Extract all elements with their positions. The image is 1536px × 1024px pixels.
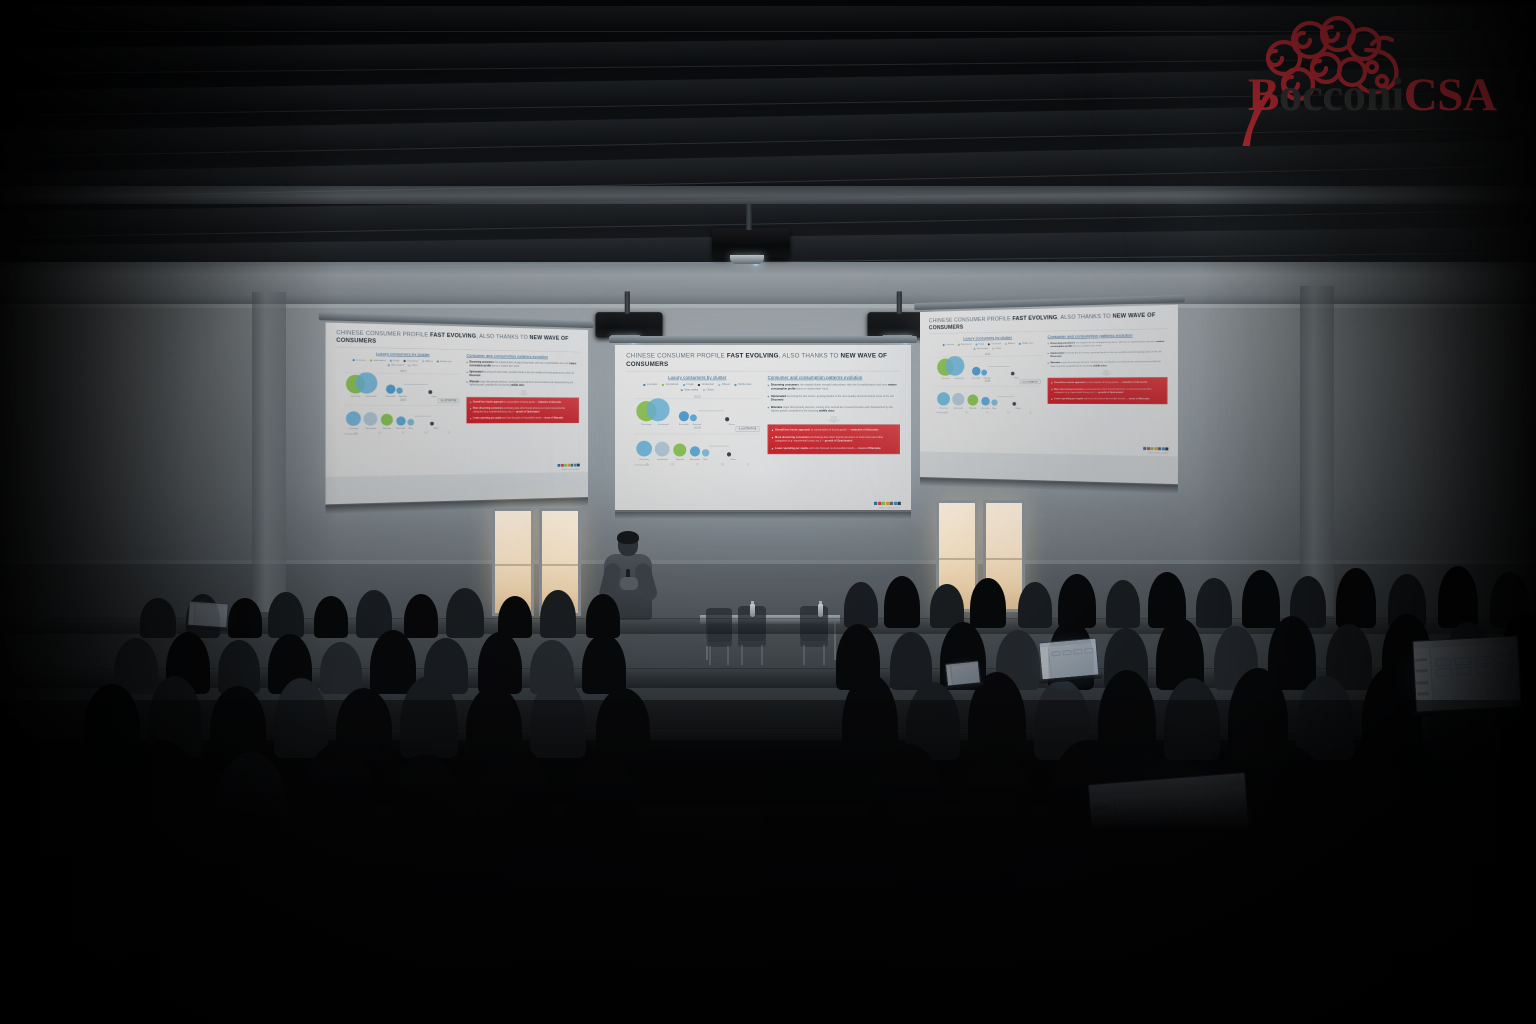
chair: [800, 606, 828, 664]
chart-legend: Luxurians Aspirational Frugal Occasional…: [634, 383, 760, 391]
laptop-display: [1038, 638, 1099, 681]
ceiling-projector-left: [595, 312, 662, 338]
bullet-item: Opinionated becoming the fast cluster, g…: [466, 370, 578, 378]
bullet-item: Opinionated becoming the fast cluster, g…: [768, 394, 900, 402]
chart-heading: Luxury consumers by cluster: [936, 335, 1042, 341]
bubble-row-2018: Discerning Opinionated Wannabe Accessibl…: [634, 435, 760, 460]
laptop-screen: [1038, 638, 1099, 681]
slide-left: CHINESE CONSUMER PROFILE FAST EVOLVING, …: [326, 323, 589, 477]
bubble-row-2018: Discerning Opinionated Wannabe Accessibl…: [936, 387, 1042, 409]
logo-wordmark-red: CSA: [1404, 69, 1497, 121]
slide-left-column: Luxury consumers by cluster Luxurians As…: [344, 351, 460, 434]
audience-member: [1018, 582, 1052, 628]
chart-heading: Luxury consumers by cluster: [344, 351, 460, 358]
title-mid: , ALSO THANKS TO: [476, 333, 529, 340]
projection-screen-right: CHINESE CONSUMER PROFILE FAST EVOLVING, …: [920, 305, 1178, 486]
chart-legend: Luxurians Aspirational Frugal Occasional…: [344, 358, 460, 367]
slide-footer-note: Source: company analysis: [562, 468, 580, 470]
slide-title-center: CHINESE CONSUMER PROFILE FAST EVOLVING, …: [626, 351, 899, 368]
slide-left-column: Luxury consumers by cluster Luxurians As…: [936, 335, 1042, 414]
slide-title-right: CHINESE CONSUMER PROFILE FAST EVOLVING, …: [929, 311, 1167, 331]
laptop-screen: [945, 660, 981, 687]
down-arrow-icon: [518, 390, 530, 396]
screen-roller-center: [609, 336, 917, 343]
bubble-row-2013: Discerning Opinionated Accessible Wannab…: [936, 357, 1042, 379]
audience-member: [586, 594, 620, 638]
key-takeaway-box: Overall less hectic approach to consumpt…: [768, 425, 900, 454]
key-takeaway-box: Overall less hectic approach to consumpt…: [466, 397, 578, 423]
water-bottle: [750, 604, 755, 617]
slide-brand-logo: [874, 502, 901, 505]
bocconi-csa-watermark: BocconiCSA: [1226, 6, 1526, 146]
projection-screen-center: CHINESE CONSUMER PROFILE FAST EVOLVING, …: [615, 345, 911, 511]
slide-right: CHINESE CONSUMER PROFILE FAST EVOLVING, …: [920, 305, 1178, 457]
wall-pillar-right: [1300, 286, 1334, 616]
chart-legend: Luxurians Aspirational Frugal Occasional…: [936, 342, 1042, 350]
slide-center: CHINESE CONSUMER PROFILE FAST EVOLVING, …: [615, 345, 911, 512]
slide-right-column: Consumer and consumption patterns evolut…: [466, 354, 578, 424]
audience-member: [228, 598, 262, 638]
ceiling-projector-center: [712, 228, 790, 258]
illustrative-tag: ILLUSTRATIVE: [438, 399, 459, 404]
bubble-row-2013: Discerning Opinionated Accessible Wannab…: [634, 400, 760, 425]
audience-member: [268, 592, 304, 638]
chair: [706, 608, 732, 664]
chart-heading: Luxury consumers by cluster: [634, 376, 760, 381]
bullet-item: Discerning consumers: the original clust…: [466, 361, 578, 370]
bullet-item: Discerning consumers: the original clust…: [1048, 340, 1168, 349]
right-column-heading: Consumer and consumption patterns evolut…: [466, 354, 578, 361]
foreground-shadow: [0, 700, 1536, 1024]
slide-footer-note: Source: company analysis: [879, 507, 901, 509]
title-bold-1: FAST EVOLVING: [430, 332, 476, 339]
lecture-hall-photo: CHINESE CONSUMER PROFILE FAST EVOLVING, …: [0, 0, 1536, 1024]
slide-left-column: Luxury consumers by cluster Luxurians As…: [634, 376, 760, 466]
logo-wordmark-grey: occoni: [1279, 69, 1404, 121]
screen-surface-right: CHINESE CONSUMER PROFILE FAST EVOLVING, …: [920, 305, 1178, 486]
illustrative-tag: ILLUSTRATIVE: [736, 426, 759, 431]
illustrative-tag: ILLUSTRATIVE: [1020, 380, 1040, 385]
bullet-item: Wannabe major discontinuity element, com…: [768, 405, 900, 413]
down-arrow-icon: [1100, 370, 1113, 376]
slide-title-left: CHINESE CONSUMER PROFILE FAST EVOLVING, …: [336, 329, 578, 350]
slide-brand-logo: [558, 464, 580, 467]
screen-surface-center: CHINESE CONSUMER PROFILE FAST EVOLVING, …: [615, 345, 911, 511]
screen-surface-left: CHINESE CONSUMER PROFILE FAST EVOLVING, …: [326, 323, 588, 506]
slide-right-column: Consumer and consumption patterns evolut…: [768, 376, 900, 455]
audience-member: [844, 582, 878, 628]
slide-right-column: Consumer and consumption patterns evolut…: [1048, 333, 1168, 404]
wall-pillar-left: [252, 292, 286, 612]
bullet-item: Opinionated becoming the fast cluster, g…: [1048, 350, 1168, 358]
right-column-heading: Consumer and consumption patterns evolut…: [768, 376, 900, 381]
bullet-item: Discerning consumers: the original clust…: [768, 383, 900, 391]
audience-member: [314, 596, 348, 638]
logo-wordmark: BocconiCSA: [1248, 68, 1496, 122]
projection-screen-left: CHINESE CONSUMER PROFILE FAST EVOLVING, …: [326, 323, 588, 506]
audience-member: [140, 598, 176, 638]
ceiling-beam-upper: [0, 186, 1536, 204]
laptop-screen: [187, 601, 229, 630]
down-arrow-icon: [827, 416, 841, 422]
slide-footer-note: Source: company analysis: [1148, 452, 1168, 454]
bullet-item: Wannabe major discontinuity element, com…: [1048, 360, 1168, 368]
audience-member: [404, 594, 438, 638]
key-takeaway-box: Overall less hectic approach to consumpt…: [1048, 377, 1168, 404]
slide-brand-logo: [1143, 447, 1168, 450]
right-column-heading: Consumer and consumption patterns evolut…: [1048, 333, 1168, 340]
bubble-row-2013: Discerning Opinionated Accessible Wannab…: [344, 374, 460, 398]
bubble-row-2018: Discerning Opinionated Wannabe Accessibl…: [344, 406, 460, 429]
water-bottle: [818, 604, 823, 617]
bullet-item: Wannabe major discontinuity element, com…: [466, 380, 578, 388]
